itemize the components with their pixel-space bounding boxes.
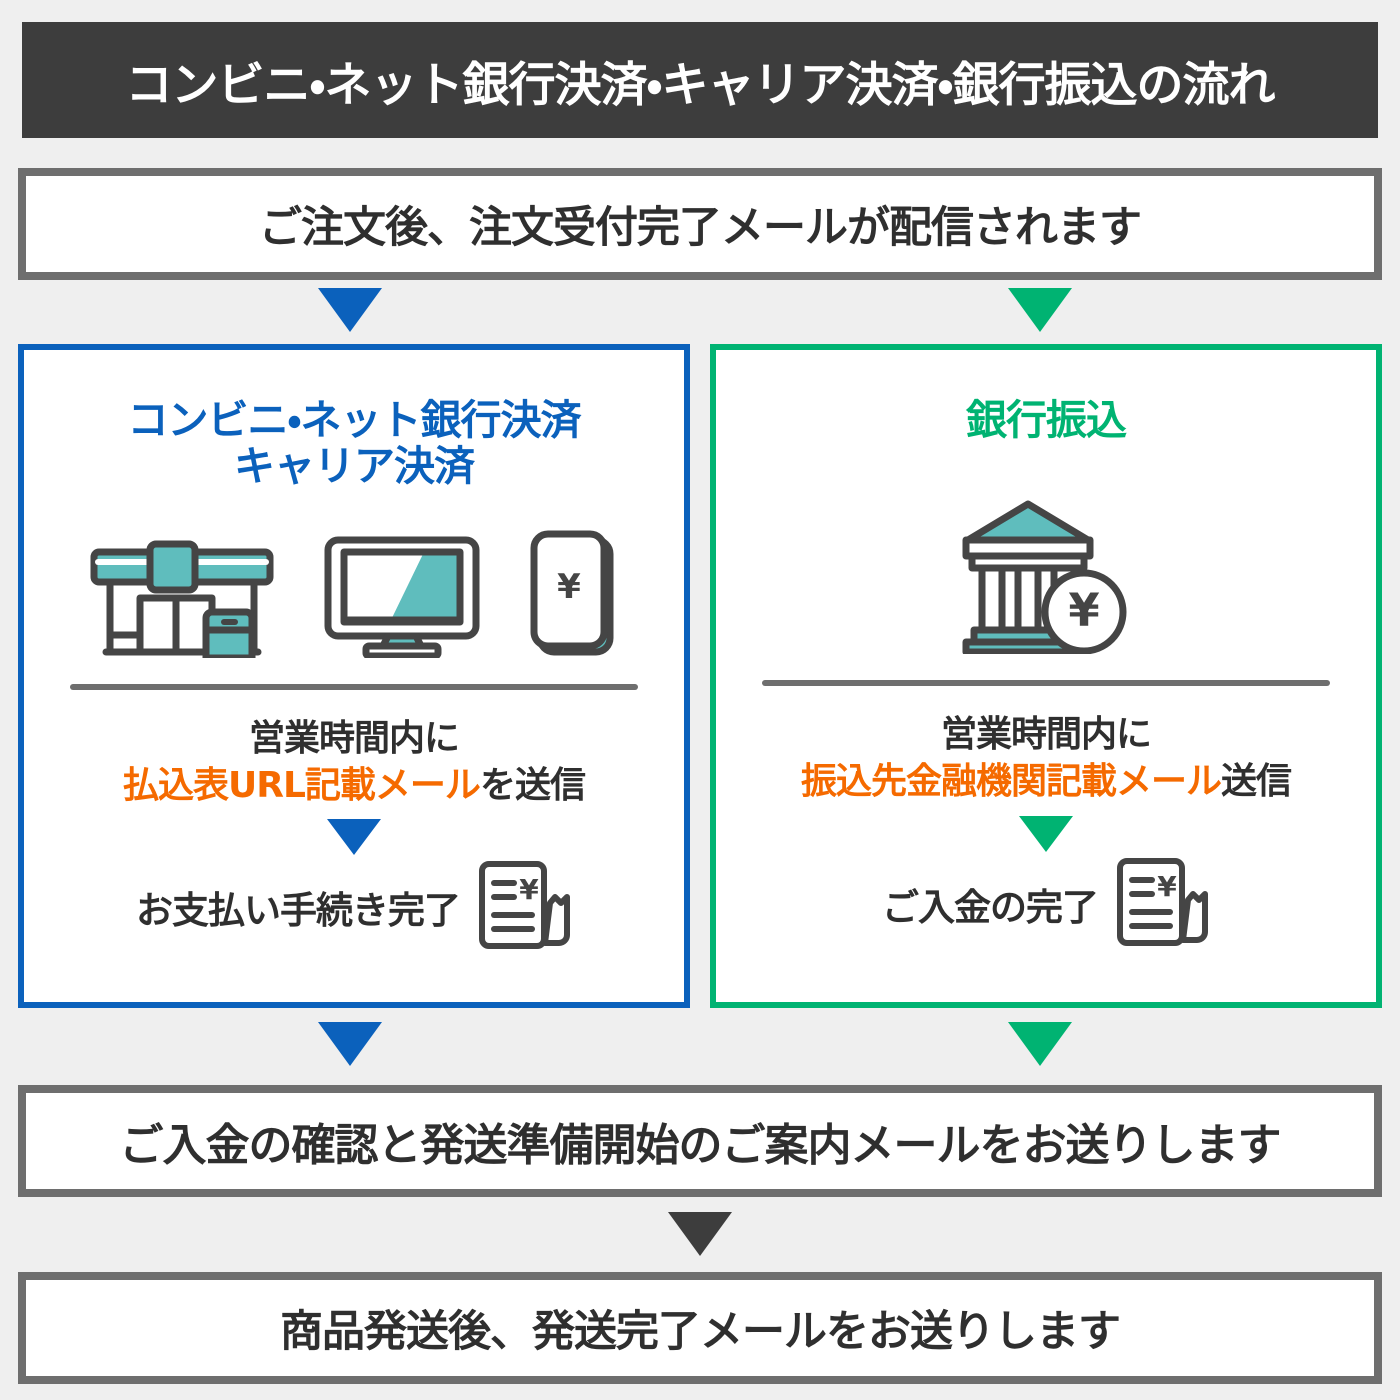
invoice-receipt-icon: ¥ xyxy=(1112,856,1210,952)
method-bank-title: 銀行振込 xyxy=(716,398,1376,444)
method-bank-icon-row: ¥ xyxy=(716,508,1376,658)
payment-flow-diagram: コンビニ・ネット銀行決済・キャリア決済・銀行振込の流れ ご注文後、注文受付完了メ… xyxy=(0,0,1400,1400)
method-conveni-inner-arrow xyxy=(24,819,684,855)
svg-text:¥: ¥ xyxy=(1068,584,1099,637)
method-bank-done-label: ご入金の完了 xyxy=(882,877,1098,931)
step-payment-confirmation-text: ご入金の確認と発送準備開始のご案内メールをお送りします xyxy=(120,1109,1281,1173)
svg-text:¥: ¥ xyxy=(519,873,539,906)
method-conveni-note-suffix: を送信 xyxy=(480,765,585,806)
method-conveni-title-line1: コンビニ・ネット銀行決済 xyxy=(24,398,684,444)
method-conveni-done-label: お支払い手続き完了 xyxy=(136,880,460,934)
method-conveni-note: 営業時間内に 払込表URL記載メールを送信 xyxy=(24,716,684,810)
arrow-conveni-to-confirm-icon xyxy=(318,1022,382,1066)
method-conveni-divider xyxy=(70,684,638,690)
arrow-confirm-to-shipped-icon xyxy=(668,1212,732,1256)
method-panel-bank: 銀行振込 xyxy=(710,344,1382,1008)
step-order-confirmation-text: ご注文後、注文受付完了メールが配信されます xyxy=(259,193,1141,255)
svg-text:¥: ¥ xyxy=(1157,870,1177,903)
arrow-bank-to-confirm-icon xyxy=(1008,1022,1072,1066)
method-bank-note: 営業時間内に 振込先金融機関記載メール送信 xyxy=(716,712,1376,806)
invoice-receipt-icon: ¥ xyxy=(474,859,572,955)
page-title-banner: コンビニ・ネット銀行決済・キャリア決済・銀行振込の流れ xyxy=(22,22,1378,138)
method-conveni-title: コンビニ・ネット銀行決済 キャリア決済 xyxy=(24,398,684,490)
method-bank-title-line1: 銀行振込 xyxy=(716,398,1376,444)
arrow-to-conveni-icon xyxy=(318,288,382,332)
arrow-to-bank-icon xyxy=(1008,288,1072,332)
page-title: コンビニ・ネット銀行決済・キャリア決済・銀行振込の流れ xyxy=(126,46,1275,115)
method-conveni-note-highlight: 払込表URL記載メール xyxy=(123,765,480,806)
method-bank-divider xyxy=(762,680,1330,686)
svg-text:¥: ¥ xyxy=(557,567,581,607)
bank-building-yen-icon: ¥ xyxy=(956,498,1136,658)
method-bank-done-row: ご入金の完了 ¥ xyxy=(716,856,1376,952)
smartphone-yen-icon: ¥ xyxy=(528,530,620,662)
step-shipping-confirmation-text: 商品発送後、発送完了メールをお送りします xyxy=(280,1297,1120,1359)
method-bank-note-line1: 営業時間内に xyxy=(716,712,1376,759)
method-conveni-done-row: お支払い手続き完了 ¥ xyxy=(24,859,684,955)
method-conveni-note-line1: 営業時間内に xyxy=(24,716,684,763)
method-conveni-icon-row: ¥ xyxy=(24,512,684,662)
method-bank-inner-arrow xyxy=(716,816,1376,852)
step-shipping-confirmation-box: 商品発送後、発送完了メールをお送りします xyxy=(18,1272,1382,1384)
step-payment-confirmation-box: ご入金の確認と発送準備開始のご案内メールをお送りします xyxy=(18,1085,1382,1197)
method-bank-note-highlight: 振込先金融機関記載メール xyxy=(801,761,1221,802)
convenience-store-icon xyxy=(88,536,276,662)
method-bank-note-suffix: 送信 xyxy=(1221,761,1291,802)
arrow-down-blue-icon xyxy=(327,819,381,855)
method-panel-conveni: コンビニ・ネット銀行決済 キャリア決済 xyxy=(18,344,690,1008)
desktop-monitor-icon xyxy=(322,534,482,662)
step-order-confirmation-box: ご注文後、注文受付完了メールが配信されます xyxy=(18,168,1382,280)
arrow-down-green-icon xyxy=(1019,816,1073,852)
method-conveni-title-line2: キャリア決済 xyxy=(24,444,684,490)
